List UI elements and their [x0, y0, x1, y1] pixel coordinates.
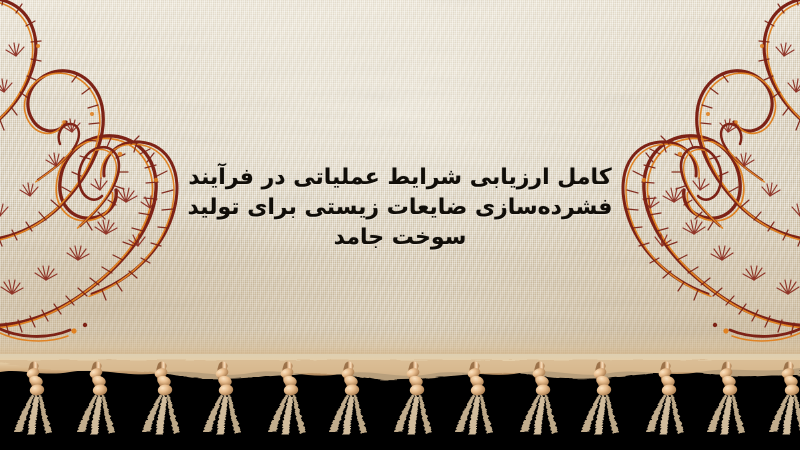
fabric-grain-overlay [0, 0, 800, 368]
fringe-backdrop [0, 362, 800, 450]
slide-canvas: کامل ارزیابی شرایط عملیاتی در فرآیند فشر… [0, 0, 800, 450]
textile-background [0, 0, 800, 368]
